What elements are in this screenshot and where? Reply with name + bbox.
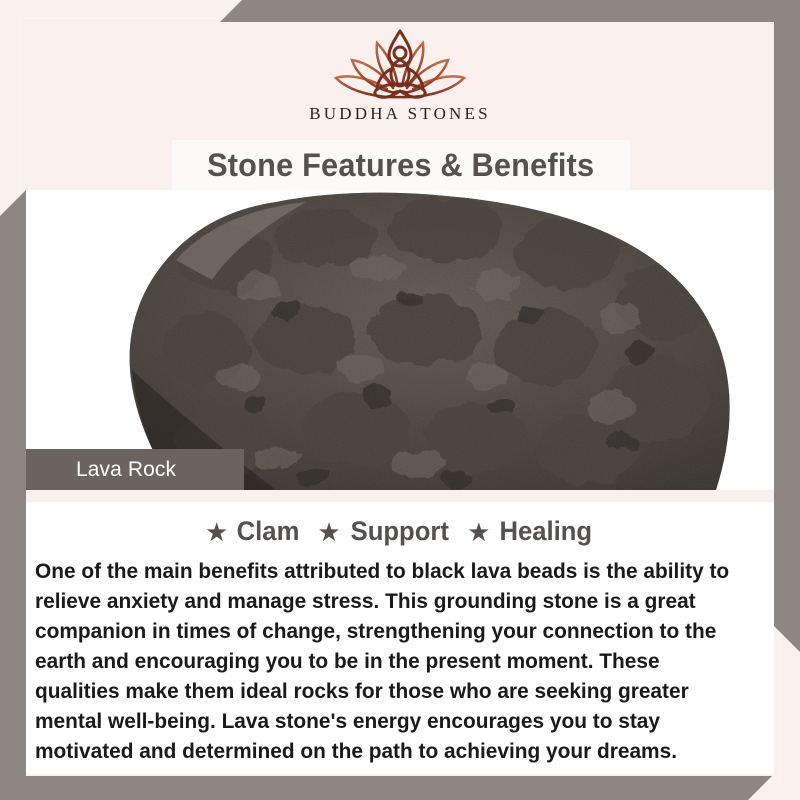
benefits-row: ★ Clam ★ Support ★ Healing (26, 502, 774, 547)
separator-strip (26, 490, 774, 502)
frame-band-bottom (0, 776, 772, 800)
brand-header: BUDDHA STONES (0, 0, 800, 140)
frame-band-left (0, 190, 26, 800)
benefit-item: ★ Support (317, 516, 451, 547)
infographic-poster: BUDDHA STONES Stone Features & Benefits (0, 0, 800, 800)
brand-name: BUDDHA STONES (309, 104, 491, 124)
lava-rock-photo (26, 190, 774, 490)
lotus-meditation-figure-icon (325, 22, 475, 102)
benefit-label: Support (350, 516, 448, 547)
star-icon: ★ (467, 519, 490, 545)
benefit-item: ★ Healing (467, 516, 595, 547)
title-banner: Stone Features & Benefits (172, 140, 630, 190)
photo-caption-label: Lava Rock (76, 458, 176, 482)
description-paragraph: One of the main benefits attributed to b… (35, 556, 746, 766)
benefit-label: Healing (500, 516, 593, 547)
benefit-item: ★ Clam (205, 516, 301, 547)
content-panel: ★ Clam ★ Support ★ Healing One of the ma… (26, 502, 774, 774)
star-icon: ★ (205, 519, 228, 545)
photo-caption-bar: Lava Rock (26, 449, 244, 490)
star-icon: ★ (317, 519, 340, 545)
page-title: Stone Features & Benefits (207, 147, 594, 184)
lava-rock-photo-panel (26, 190, 774, 490)
benefit-label: Clam (237, 516, 300, 547)
